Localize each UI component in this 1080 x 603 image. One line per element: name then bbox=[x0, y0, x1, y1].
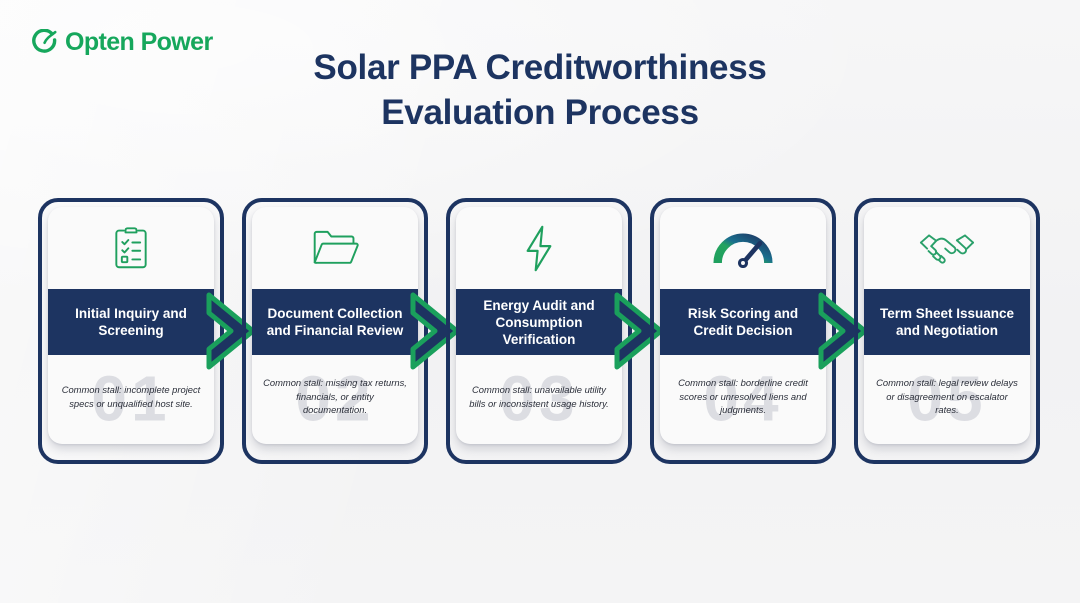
connector-4-5 bbox=[836, 198, 854, 464]
step-card: Initial Inquiry and Screening 01 Common … bbox=[48, 207, 214, 444]
step-body: 04 Common stall: borderline credit score… bbox=[660, 355, 826, 444]
step-heading: Document Collection and Financial Review bbox=[252, 289, 418, 355]
step-card: Term Sheet Issuance and Negotiation 05 C… bbox=[864, 207, 1030, 444]
step-heading: Term Sheet Issuance and Negotiation bbox=[864, 289, 1030, 355]
handshake-icon bbox=[864, 207, 1030, 289]
page-title-line-2: Evaluation Process bbox=[0, 91, 1080, 136]
process-step-5[interactable]: Term Sheet Issuance and Negotiation 05 C… bbox=[854, 198, 1040, 464]
step-body: 03 Common stall: unavailable utility bil… bbox=[456, 355, 622, 444]
lightning-bolt-icon bbox=[456, 207, 622, 289]
step-card: Risk Scoring and Credit Decision 04 Comm… bbox=[660, 207, 826, 444]
process-step-1[interactable]: Initial Inquiry and Screening 01 Common … bbox=[38, 198, 224, 464]
step-note: Common stall: legal review delays or dis… bbox=[875, 376, 1019, 416]
step-note: Common stall: unavailable utility bills … bbox=[467, 383, 611, 410]
connector-1-2 bbox=[224, 198, 242, 464]
process-step-3[interactable]: Energy Audit and Consumption Verificatio… bbox=[446, 198, 632, 464]
step-heading: Energy Audit and Consumption Verificatio… bbox=[456, 289, 622, 355]
clipboard-checklist-icon bbox=[48, 207, 214, 289]
gauge-meter-icon bbox=[660, 207, 826, 289]
step-card: Document Collection and Financial Review… bbox=[252, 207, 418, 444]
step-heading: Initial Inquiry and Screening bbox=[48, 289, 214, 355]
step-note: Common stall: borderline credit scores o… bbox=[671, 376, 815, 416]
page-title-line-1: Solar PPA Creditworthiness bbox=[0, 46, 1080, 91]
process-step-2[interactable]: Document Collection and Financial Review… bbox=[242, 198, 428, 464]
open-folder-icon bbox=[252, 207, 418, 289]
step-body: 05 Common stall: legal review delays or … bbox=[864, 355, 1030, 444]
connector-3-4 bbox=[632, 198, 650, 464]
step-note: Common stall: incomplete project specs o… bbox=[59, 383, 203, 410]
step-note: Common stall: missing tax returns, finan… bbox=[263, 376, 407, 416]
process-step-4[interactable]: Risk Scoring and Credit Decision 04 Comm… bbox=[650, 198, 836, 464]
step-heading: Risk Scoring and Credit Decision bbox=[660, 289, 826, 355]
step-body: 02 Common stall: missing tax returns, fi… bbox=[252, 355, 418, 444]
connector-2-3 bbox=[428, 198, 446, 464]
process-flow: Initial Inquiry and Screening 01 Common … bbox=[38, 198, 1042, 464]
page-title: Solar PPA Creditworthiness Evaluation Pr… bbox=[0, 46, 1080, 136]
step-body: 01 Common stall: incomplete project spec… bbox=[48, 355, 214, 444]
step-card: Energy Audit and Consumption Verificatio… bbox=[456, 207, 622, 444]
